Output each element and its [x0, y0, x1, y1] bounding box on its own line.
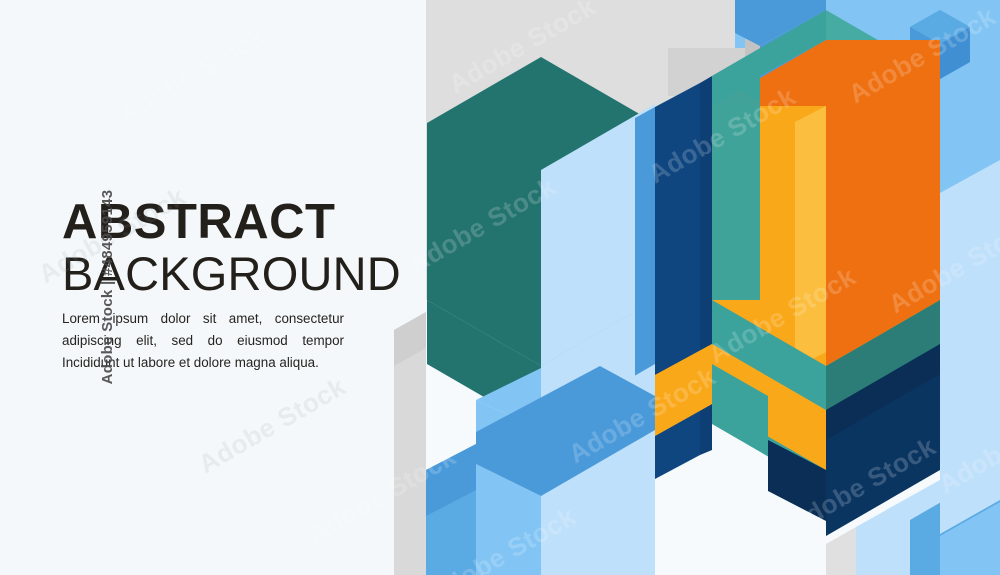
text-panel-background — [0, 0, 426, 575]
abstract-background-poster: Adobe Stock Adobe Stock Adobe Stock Adob… — [0, 0, 1000, 575]
yellow-highlight-slab — [795, 106, 826, 368]
teal-left-shoulder — [712, 76, 760, 300]
abstract-geometric-artwork — [0, 0, 1000, 575]
